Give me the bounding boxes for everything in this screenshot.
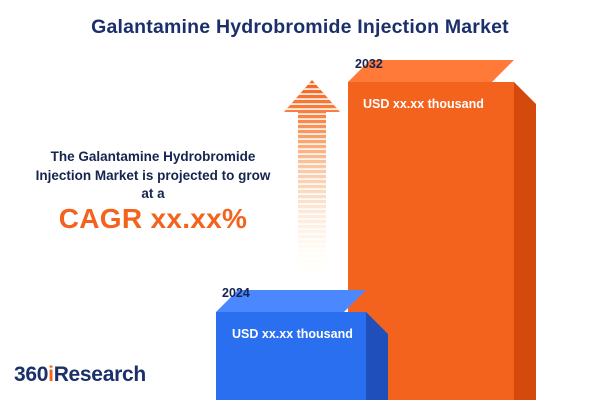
up-arrow-icon xyxy=(282,80,342,280)
bar-2024 xyxy=(216,312,366,400)
lead-statement: The Galantamine Hydrobromide Injection M… xyxy=(28,148,278,204)
bar-2024-side xyxy=(366,334,388,400)
bar-2032-side-top xyxy=(514,82,536,104)
bar-2024-side-top xyxy=(366,312,388,334)
bar-label-2032: 2032 xyxy=(355,57,383,71)
brand-logo: 360iResearch xyxy=(14,363,146,387)
infographic-canvas: Galantamine Hydrobromide Injection Marke… xyxy=(0,0,600,400)
bar-value-2024: USD xx.xx thousand xyxy=(232,327,353,341)
bar-label-2024: 2024 xyxy=(222,286,250,300)
logo-suffix: Research xyxy=(54,363,146,386)
cagr-value: CAGR xx.xx% xyxy=(28,203,278,235)
page-title: Galantamine Hydrobromide Injection Marke… xyxy=(0,16,600,39)
bar-value-2032: USD xx.xx thousand xyxy=(363,97,484,111)
logo-prefix: 360 xyxy=(14,363,48,386)
bar-2032-side xyxy=(514,104,536,400)
